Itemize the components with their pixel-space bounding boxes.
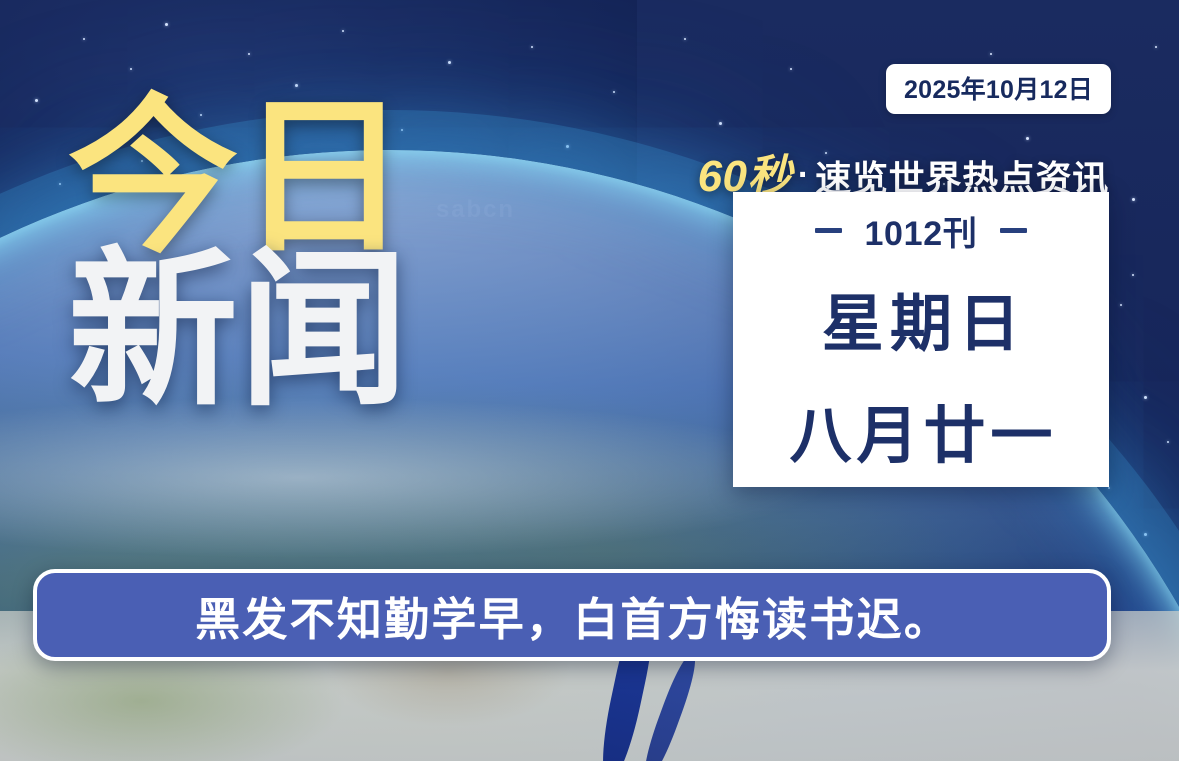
issue-number: 1012刊 <box>864 206 977 255</box>
poster-content: sabcn 今日 新闻 2025年10月12日 60秒·速览世界热点资讯 101… <box>0 0 1179 761</box>
quote-bar: 黑发不知勤学早，白首方悔读书迟。 <box>33 569 1111 661</box>
watermark-text: sabcn <box>436 196 515 224</box>
masthead-title: 今日 新闻 <box>68 96 409 414</box>
news-poster: sabcn 今日 新闻 2025年10月12日 60秒·速览世界热点资讯 101… <box>0 0 1179 761</box>
quote-text: 黑发不知勤学早，白首方悔读书迟。 <box>193 583 951 648</box>
issue-number-row: 1012刊 <box>815 206 1026 255</box>
dash-right-icon <box>1000 228 1027 233</box>
tagline-separator: · <box>798 156 809 194</box>
lunar-date-label: 八月廿一 <box>785 385 1058 475</box>
issue-card: 1012刊 星期日 八月廿一 <box>733 192 1109 487</box>
dash-left-icon <box>815 228 842 233</box>
weekday-label: 星期日 <box>816 273 1027 363</box>
date-badge: 2025年10月12日 <box>886 64 1111 114</box>
masthead-line-xinwen: 新闻 <box>68 249 409 414</box>
